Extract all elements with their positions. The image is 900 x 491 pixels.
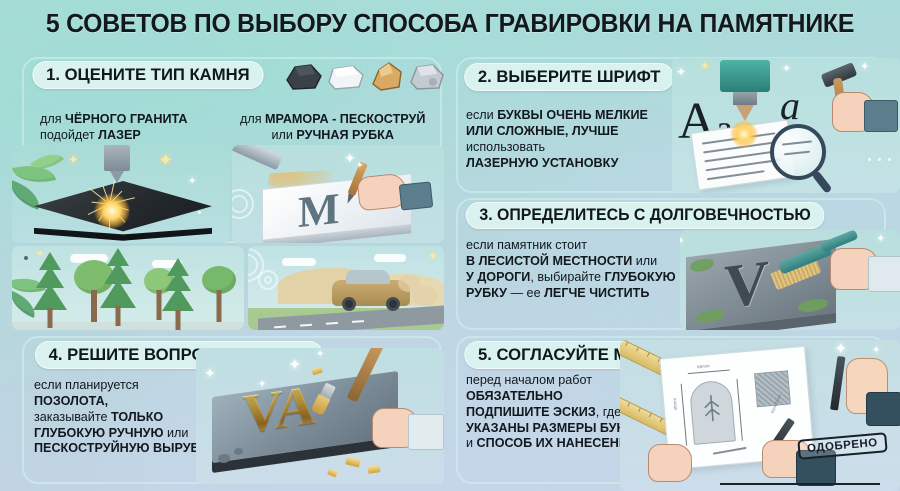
cloud-icon: [374, 254, 406, 262]
sleeve-cuff: [408, 414, 444, 450]
copy-bold: ЧЁРНОГО ГРАНИТА: [65, 112, 188, 126]
section-1-right-copy: для МРАМОРА - ПЕСКОСТРУЙ или РУЧНАЯ РУБК…: [240, 112, 425, 144]
copy-bold: ГЛУБОКУЮ РУЧНУЮ: [34, 426, 164, 440]
infographic-poster: 5 СОВЕТОВ ПО ВЫБОРУ СПОСОБА ГРАВИРОВКИ Н…: [0, 0, 900, 491]
copy-light: если: [466, 108, 497, 122]
sparkle-icon: ✦: [676, 66, 686, 78]
copy-bold: УКАЗАНЫ РАЗМЕРЫ БУКВ: [466, 421, 633, 435]
copy-bold: ЛАЗЕРНУЮ УСТАНОВКУ: [466, 156, 618, 170]
copy-light: перед началом работ: [466, 373, 592, 387]
gold-letters: VA: [242, 377, 316, 443]
sparkle-icon: ✦: [700, 60, 710, 72]
forest-scene-illustration: ✦: [12, 246, 244, 330]
monument-engraving-motif: [689, 379, 736, 444]
section-1-left-copy: для ЧЁРНОГО ГРАНИТА подойдет ЛАЗЕР: [40, 112, 188, 144]
laser-head-icon: [104, 145, 130, 171]
copy-bold: ИЛИ СЛОЖНЫЕ, ЛУЧШЕ: [466, 124, 618, 138]
copy-light: подойдет: [40, 128, 95, 142]
sparkle-icon: ✦: [316, 350, 324, 360]
road-car-scene-illustration: ✦: [248, 246, 444, 330]
sleeve-cuff: [866, 392, 900, 426]
section-2-badge[interactable]: 2. ВЫБЕРИТЕ ШРИФТ: [464, 63, 674, 91]
copy-light: заказывайте: [34, 410, 111, 424]
sparkle-icon: ✦: [876, 234, 885, 245]
copy-light: и: [466, 436, 477, 450]
gray-stone-icon: [281, 60, 446, 94]
typography-laser-illustration: A a a ✦ ✦ ✦ ✦: [672, 58, 900, 193]
sparkle-icon: ✦: [288, 358, 301, 374]
section-3-badge-wrap: 3. ОПРЕДЕЛИТЕСЬ С ДОЛГОВЕЧНОСТЬЮ: [462, 202, 828, 229]
copy-bold: ТОЛЬКО: [111, 410, 163, 424]
sparkle-icon: ✦: [356, 161, 364, 170]
spark-glow: [94, 193, 130, 229]
sparkle-icon: ✦: [258, 380, 266, 390]
section-5-copy: перед началом работ ОБЯЗАТЕЛЬНО ПОДПИШИТ…: [466, 373, 637, 452]
sparkle-icon: ✦: [834, 342, 847, 358]
copy-bold: РУБКУ: [466, 286, 507, 300]
brush-cleaning-illustration: V ✦ ✦: [680, 230, 900, 330]
copy-bold: СПОСОБ ИХ НАНЕСЕНИЯ: [477, 436, 637, 450]
cloud-icon: [282, 258, 316, 266]
copy-bold: БУКВЫ ОЧЕНЬ МЕЛКИЕ: [497, 108, 648, 122]
section-1-badge-wrap: 1. ОЦЕНИТЕ ТИП КАМНЯ: [30, 61, 266, 89]
copy-bold: ПЕСКОСТРУЙНУЮ ВЫРУБКУ: [34, 441, 215, 455]
section-2-copy: если БУКВЫ ОЧЕНЬ МЕЛКИЕ ИЛИ СЛОЖНЫЕ, ЛУЧ…: [466, 108, 648, 171]
section-3-badge[interactable]: 3. ОПРЕДЕЛИТЕСЬ С ДОЛГОВЕЧНОСТЬЮ: [466, 202, 825, 229]
copy-light: или: [164, 426, 189, 440]
laser-engraving-illustration: ✦ ✦ ✦: [12, 145, 230, 243]
gear-icon: [258, 270, 278, 290]
sleeve-cuff: [399, 181, 434, 210]
section-2-badge-wrap: 2. ВЫБЕРИТЕ ШРИФТ: [462, 63, 676, 91]
copy-bold: ПОЗОЛОТА,: [34, 394, 108, 408]
sparkle-icon: ✦: [188, 177, 196, 187]
sparkle-icon: ✦: [782, 64, 791, 75]
sketch-approval-illustration: 60mm 40mm Sandblast ОДОБРЕНО ✦ ✦: [620, 340, 900, 491]
copy-bold: ОБЯЗАТЕЛЬНО: [466, 389, 563, 403]
copy-light: — ее: [507, 286, 544, 300]
sleeve-cuff: [868, 256, 900, 292]
sparkle-icon: ✦: [68, 153, 79, 166]
copy-bold: У ДОРОГИ: [466, 270, 530, 284]
copy-bold: РУЧНАЯ РУБКА: [296, 128, 394, 142]
copy-light: использовать: [466, 140, 545, 154]
copy-bold: МРАМОРА - ПЕСКОСТРУЙ: [265, 112, 425, 126]
copy-bold: ПОДПИШИТЕ ЭСКИЗ: [466, 405, 596, 419]
finish-swatch: [754, 370, 791, 407]
copy-light: или: [632, 254, 657, 268]
decorative-dot: [198, 211, 201, 214]
copy-light: если памятник стоит: [466, 238, 587, 252]
spark-glow: [730, 120, 758, 148]
signature-line: [713, 447, 747, 454]
sparkle-icon: ✦: [204, 366, 216, 380]
copy-bold: ЛЕГЧЕ ЧИСТИТЬ: [544, 286, 649, 300]
copy-light: для: [40, 112, 62, 126]
sparkle-icon: ✦: [680, 234, 685, 247]
sparkle-icon: ✦: [428, 250, 438, 262]
copy-light: если планируется: [34, 378, 139, 392]
sparkle-icon: ✦: [344, 151, 356, 165]
section-1-badge[interactable]: 1. ОЦЕНИТЕ ТИП КАМНЯ: [32, 61, 263, 89]
sparkle-icon: ✦: [158, 151, 173, 169]
copy-light: , где: [596, 405, 621, 419]
cnc-laser-head-icon: [720, 60, 770, 92]
sparkle-icon: ✦: [860, 62, 869, 73]
copy-bold: ГЛУБОКУЮ: [605, 270, 676, 284]
round-tree: [202, 266, 236, 322]
copy-light: или: [271, 128, 292, 142]
hand-icon: [648, 444, 692, 482]
sandblast-carving-illustration: M ✦ ✦: [232, 145, 444, 243]
dust-cloud: [412, 286, 438, 306]
baseline-rule: [720, 483, 880, 485]
section-4-copy: если планируется ПОЗОЛОТА, заказывайте Т…: [34, 378, 215, 457]
stone-icons-row: [281, 60, 446, 94]
copy-light: , выбирайте: [530, 270, 604, 284]
section-3-copy: если памятник стоит В ЛЕСИСТОЙ МЕСТНОСТИ…: [466, 238, 676, 301]
granite-letter: V: [724, 251, 769, 318]
sparkle-icon: ✦: [36, 250, 44, 260]
copy-light: для: [240, 112, 262, 126]
gilding-illustration: VA ✦ ✦ ✦ ✦: [196, 348, 444, 484]
sleeve-cuff: [864, 100, 898, 132]
poster-title: 5 СОВЕТОВ ПО ВЫБОРУ СПОСОБА ГРАВИРОВКИ Н…: [14, 10, 887, 39]
copy-bold: ЛАЗЕР: [98, 128, 141, 142]
sparkle-icon: ✦: [872, 346, 880, 356]
marble-letter: M: [298, 187, 340, 235]
copy-bold: В ЛЕСИСТОЙ МЕСТНОСТИ: [466, 254, 632, 268]
